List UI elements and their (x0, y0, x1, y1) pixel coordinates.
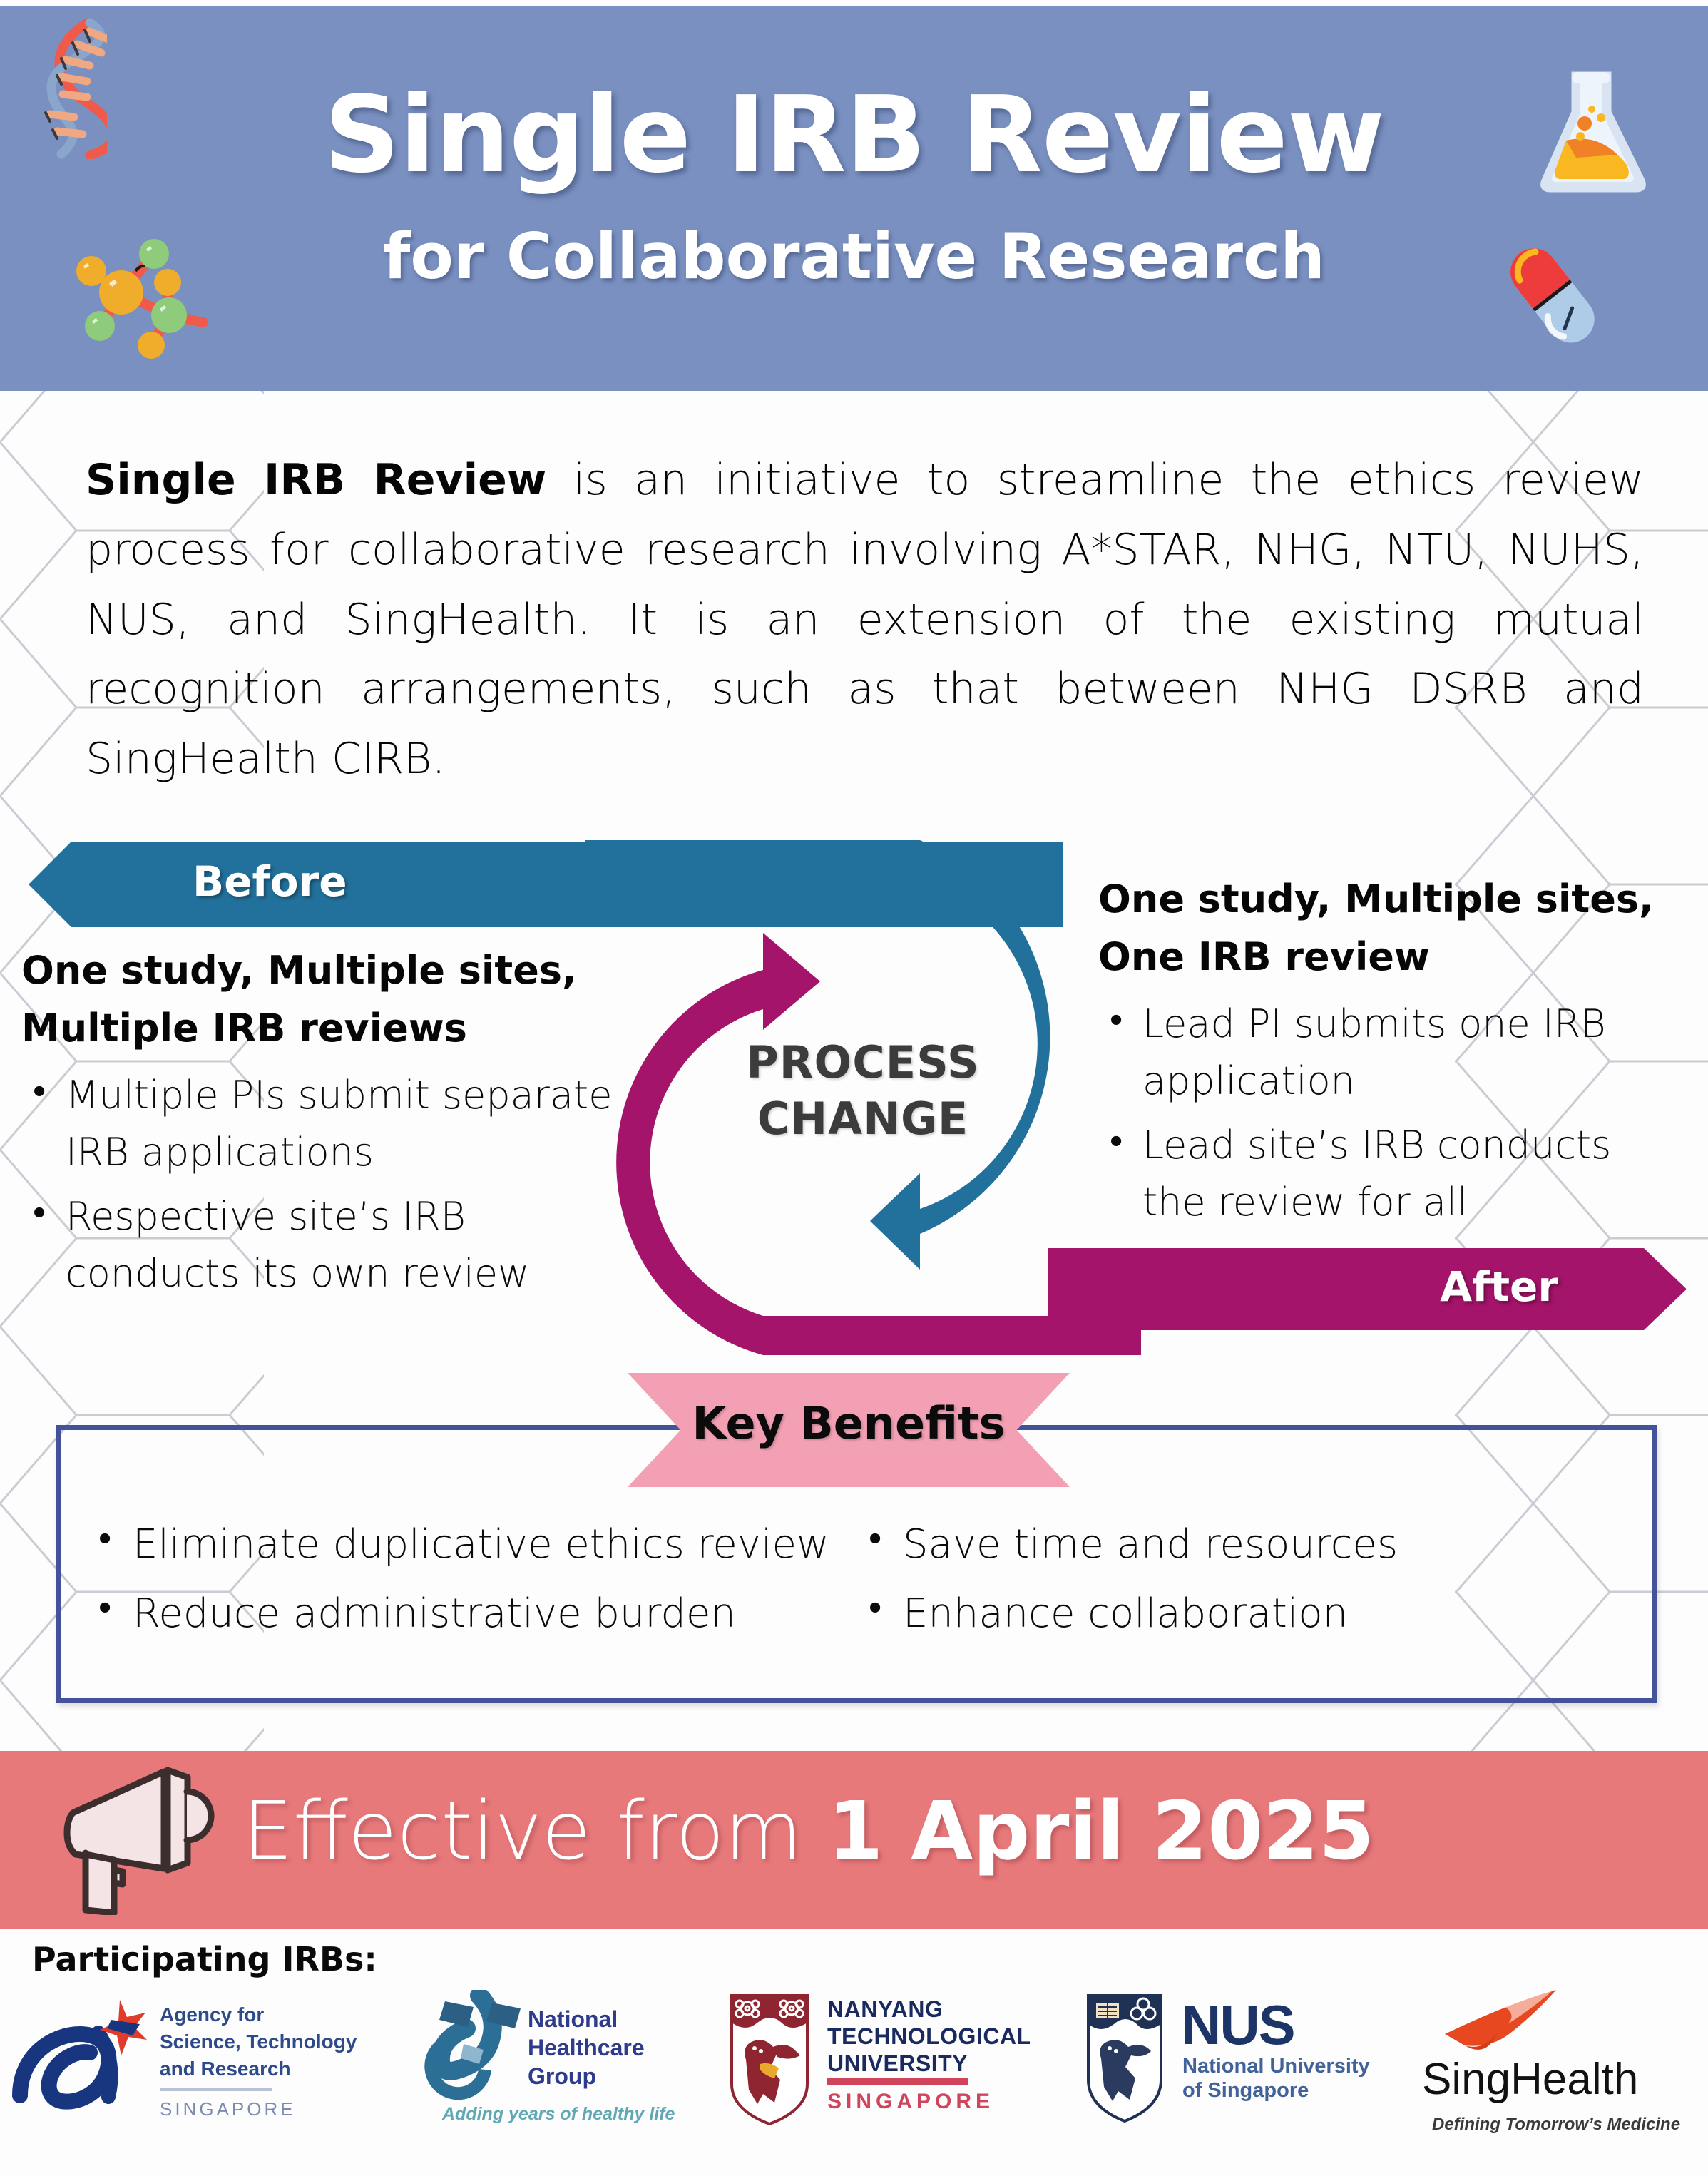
ntu-line1: NANYANG (827, 1996, 943, 2022)
nhg-line1: National (528, 2006, 618, 2032)
after-bullet-list: Lead PI submits one IRB application Lead… (1098, 996, 1683, 1231)
singhealth-logo: SingHealth Defining Tomorrow’s Medicine (1412, 1990, 1708, 2176)
poster-header: Single IRB Review for Collaborative Rese… (0, 6, 1708, 391)
key-benefits-right-column: Save time and resources Enhance collabor… (856, 1519, 1626, 1657)
list-item: Respective site’s IRB conducts its own r… (21, 1188, 642, 1302)
process-change-label: PROCESS CHANGE (585, 1034, 1141, 1148)
before-arrow-banner: Before (29, 842, 1063, 927)
effective-date-banner: Effective from 1 April 2025 (0, 1751, 1708, 1929)
after-heading: One study, Multiple sites, One IRB revie… (1098, 870, 1683, 986)
after-heading-line2: One IRB review (1098, 934, 1430, 979)
ntu-line3: UNIVERSITY (827, 2050, 968, 2076)
effective-date-text: Effective from 1 April 2025 (242, 1785, 1374, 1878)
astar-logo: Agency for Science, Technology and Resea… (0, 1990, 414, 2176)
after-arrow-label: After (1440, 1262, 1558, 1311)
flask-icon (1533, 68, 1651, 196)
effective-prefix: Effective from (242, 1785, 827, 1878)
nus-logo: NUS National University of Singapore (1077, 1990, 1412, 2176)
key-benefits-left-column: Eliminate duplicative ethics review Redu… (86, 1519, 856, 1657)
infographic-poster: Single IRB Review for Collaborative Rese… (0, 0, 1708, 2176)
list-item: Lead site’s IRB conducts the review for … (1098, 1117, 1683, 1231)
participating-irbs-label: Participating IRBs: (32, 1940, 377, 1978)
page-title: Single IRB Review (0, 73, 1708, 196)
before-bullet-list: Multiple PIs submit separate IRB applica… (21, 1067, 642, 1302)
before-heading-line2: Multiple IRB reviews (21, 1006, 467, 1051)
singhealth-line1: SingHealth (1422, 2055, 1638, 2104)
ntu-logo: NANYANG TECHNOLOGICAL UNIVERSITY SINGAPO… (720, 1990, 1077, 2176)
nhg-line2: Healthcare (528, 2035, 645, 2060)
key-benefits-columns: Eliminate duplicative ethics review Redu… (86, 1519, 1626, 1657)
key-benefits-label: Key Benefits (628, 1397, 1070, 1449)
after-arrow-banner: After (1048, 1248, 1687, 1330)
nhg-logo: National Healthcare Group Adding years o… (414, 1990, 720, 2176)
before-column: One study, Multiple sites, Multiple IRB … (21, 941, 642, 1309)
before-heading-line1: One study, Multiple sites, (21, 948, 577, 993)
singhealth-sub: Defining Tomorrow’s Medicine (1432, 2115, 1680, 2134)
astar-line2: Science, Technology (160, 2031, 357, 2053)
list-item: Multiple PIs submit separate IRB applica… (21, 1067, 642, 1181)
pill-capsule-icon (1498, 235, 1605, 353)
after-heading-line1: One study, Multiple sites, (1098, 877, 1654, 921)
list-item: Save time and resources (856, 1519, 1626, 1571)
molecule-icon (68, 228, 210, 371)
megaphone-icon (43, 1762, 221, 1915)
ntu-sub: SINGAPORE (827, 2090, 994, 2113)
process-label-line1: PROCESS (746, 1036, 979, 1088)
process-label-line2: CHANGE (757, 1093, 969, 1145)
intro-paragraph: Single IRB Review is an initiative to st… (86, 446, 1644, 795)
list-item: Enhance collaboration (856, 1588, 1626, 1640)
page-subtitle: for Collaborative Research (0, 220, 1708, 293)
ntu-line2: TECHNOLOGICAL (827, 2023, 1031, 2049)
astar-line1: Agency for (160, 2003, 264, 2026)
nus-line2: National University (1182, 2055, 1370, 2078)
intro-bold-lead: Single IRB Review (86, 455, 546, 505)
list-item: Lead PI submits one IRB application (1098, 996, 1683, 1110)
nus-line3: of Singapore (1182, 2079, 1309, 2102)
key-benefits-ribbon: Key Benefits (628, 1373, 1070, 1487)
astar-line3: and Research (160, 2058, 291, 2080)
before-heading: One study, Multiple sites, Multiple IRB … (21, 941, 642, 1057)
list-item: Eliminate duplicative ethics review (86, 1519, 856, 1571)
list-item: Reduce administrative burden (86, 1588, 856, 1640)
astar-sub: SINGAPORE (160, 2098, 296, 2120)
effective-date-value: 1 April 2025 (827, 1785, 1374, 1878)
dna-helix-icon (21, 13, 107, 159)
participating-logos-row: Agency for Science, Technology and Resea… (0, 1990, 1708, 2176)
nus-line1: NUS (1181, 1993, 1294, 2056)
nhg-line3: Group (528, 2063, 596, 2089)
before-arrow-label: Before (193, 857, 347, 906)
after-column: One study, Multiple sites, One IRB revie… (1098, 870, 1683, 1238)
nhg-sub: Adding years of healthy life (441, 2104, 675, 2124)
